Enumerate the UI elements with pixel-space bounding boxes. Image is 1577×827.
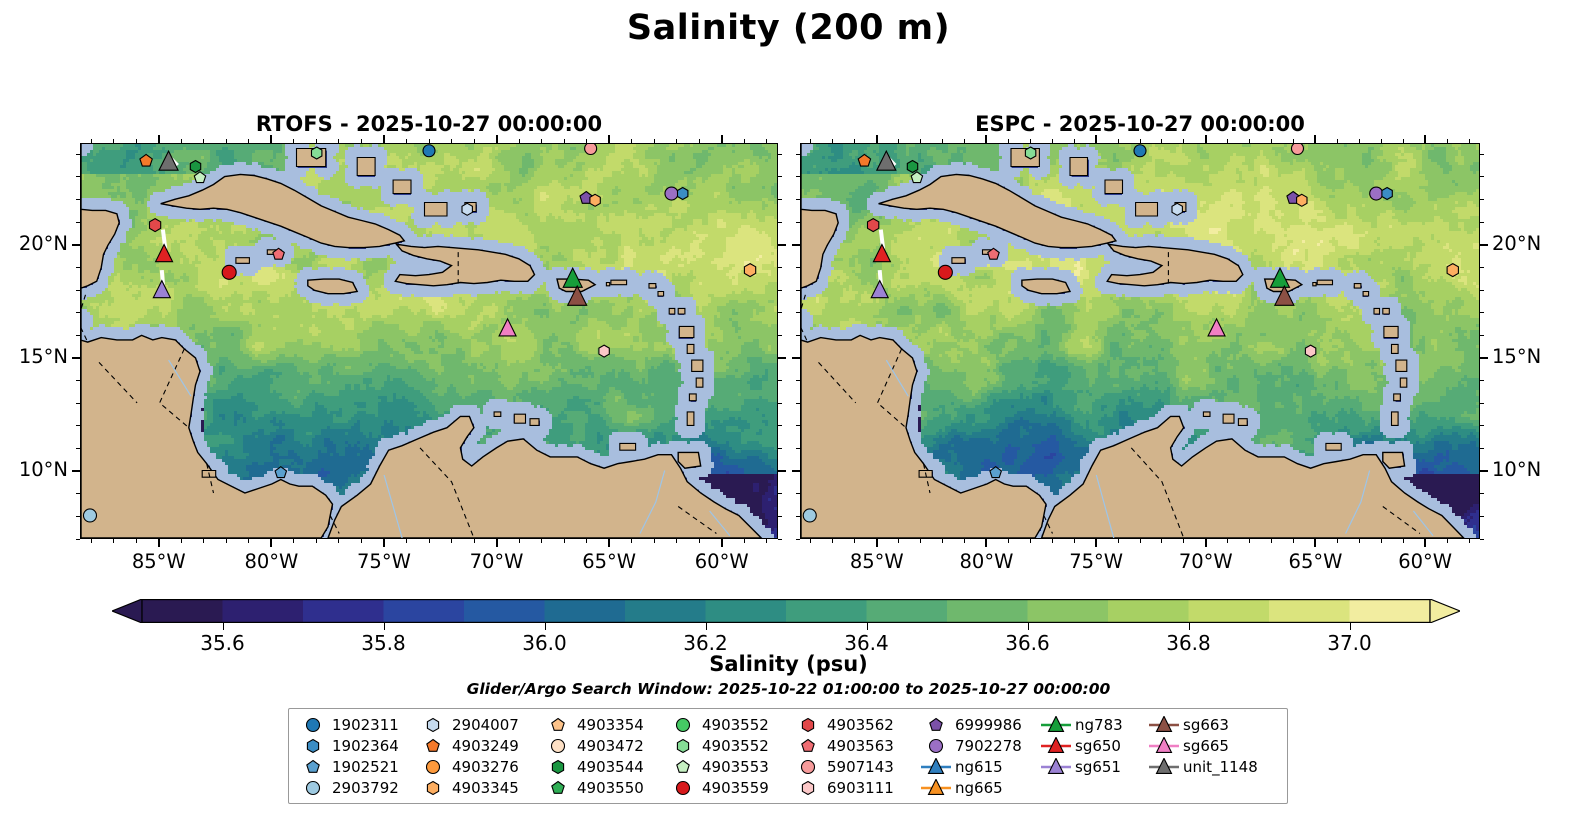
xtick-minor <box>429 139 430 143</box>
colorbar-tick <box>384 623 385 630</box>
legend-label: 4903550 <box>575 779 644 797</box>
legend-item[interactable]: 1902311 <box>296 714 416 735</box>
xtick-label: 75°W <box>1069 550 1123 573</box>
legend-item[interactable]: 4903345 <box>416 777 541 798</box>
legend-column-7: ng783sg650sg651 <box>1039 714 1147 799</box>
xtick-minor <box>832 539 833 543</box>
map-marker-2903792 <box>803 509 816 522</box>
legend-item[interactable]: sg665 <box>1147 735 1277 756</box>
legend-label: ng615 <box>953 758 1003 776</box>
xtick-minor <box>1074 139 1075 143</box>
legend-label: 1902311 <box>330 716 399 734</box>
panel-title-rtofs: RTOFS - 2025-10-27 00:00:00 <box>80 112 778 136</box>
ytick-minor <box>796 380 800 381</box>
xtick-minor <box>654 539 655 543</box>
xtick-major <box>383 135 385 143</box>
xtick-minor <box>1140 139 1141 143</box>
ytick-minor <box>76 403 80 404</box>
ytick-minor <box>796 516 800 517</box>
xtick-minor <box>203 539 204 543</box>
xtick-minor <box>541 139 542 143</box>
xtick-minor <box>564 539 565 543</box>
legend-label: 4903562 <box>825 716 894 734</box>
ytick-minor <box>796 222 800 223</box>
xtick-label: 75°W <box>357 550 411 573</box>
xtick-minor <box>1227 539 1228 543</box>
map-marker-2903792 <box>83 509 96 522</box>
legend-marker-triangle-line-icon <box>919 757 953 777</box>
xtick-minor <box>1381 139 1382 143</box>
xtick-major <box>158 135 160 143</box>
xtick-minor <box>920 539 921 543</box>
ytick-minor <box>76 222 80 223</box>
xtick-minor <box>699 539 700 543</box>
legend-item[interactable]: 7902278 <box>919 735 1039 756</box>
ytick-label: 10°N <box>0 458 68 481</box>
panel-title-espc: ESPC - 2025-10-27 00:00:00 <box>800 112 1480 136</box>
legend-label: 6903111 <box>825 779 894 797</box>
xtick-major <box>985 539 987 547</box>
xtick-minor <box>474 539 475 543</box>
colorbar-band <box>1189 599 1270 623</box>
xtick-minor <box>1249 139 1250 143</box>
legend-marker-hexagon-icon <box>541 757 575 777</box>
legend-item[interactable]: 2903792 <box>296 777 416 798</box>
legend-marker-triangle-line-icon <box>1039 757 1073 777</box>
legend-label: 4903552 <box>700 716 769 734</box>
colorbar-tick <box>1028 623 1029 630</box>
colorbar-band <box>1108 599 1189 623</box>
legend-item[interactable]: sg663 <box>1147 714 1277 735</box>
map-panel-rtofs[interactable] <box>80 143 778 539</box>
xtick-minor <box>91 139 92 143</box>
legend-label: 1902521 <box>330 758 399 776</box>
colorbar-band <box>947 599 1028 623</box>
xtick-major <box>608 135 610 143</box>
xtick-minor <box>91 539 92 543</box>
ytick-minor <box>1480 335 1484 336</box>
map-marker-1902364 <box>678 188 688 200</box>
ytick-minor <box>76 539 80 540</box>
legend-marker-hexagon-icon <box>666 736 700 756</box>
colorbar-band <box>1028 599 1109 623</box>
xtick-minor <box>519 139 520 143</box>
xtick-minor <box>226 539 227 543</box>
colorbar-tick <box>1189 623 1190 630</box>
ytick-minor <box>1480 448 1484 449</box>
ytick-major <box>72 470 80 472</box>
legend-marker-pentagon-icon <box>791 736 825 756</box>
ytick-minor <box>76 425 80 426</box>
colorbar-band <box>706 599 787 623</box>
legend-marker-hexagon-icon <box>791 778 825 798</box>
map-marker-4903559 <box>938 265 952 279</box>
legend-item[interactable]: 1902521 <box>296 756 416 777</box>
ytick-minor <box>796 448 800 449</box>
xtick-minor <box>248 539 249 543</box>
xtick-minor <box>1403 139 1404 143</box>
legend-item[interactable]: 4903544 <box>541 756 666 777</box>
legend-item[interactable]: ng665 <box>919 777 1039 798</box>
legend-marker-hexagon-icon <box>416 778 450 798</box>
ytick-minor <box>1480 516 1484 517</box>
legend-marker-hexagon-icon <box>296 736 330 756</box>
legend-item[interactable]: 6903111 <box>791 777 919 798</box>
ytick-minor <box>796 403 800 404</box>
legend-label: ng665 <box>953 779 1003 797</box>
ytick-major <box>778 470 786 472</box>
map-marker-1902364 <box>1382 188 1392 200</box>
map-marker-7902278 <box>665 187 678 200</box>
legend-label: ng783 <box>1073 716 1123 734</box>
legend-item[interactable]: 4903552 <box>666 714 791 735</box>
ytick-minor <box>778 154 782 155</box>
xtick-label: 80°W <box>960 550 1014 573</box>
xtick-minor <box>429 539 430 543</box>
ytick-label: 10°N <box>1492 458 1541 481</box>
legend-marker-pentagon-icon <box>416 736 450 756</box>
xtick-minor <box>676 139 677 143</box>
legend-marker-circle-icon <box>416 757 450 777</box>
legend-marker-pentagon-icon <box>541 715 575 735</box>
xtick-label: 70°W <box>470 550 524 573</box>
xtick-minor <box>1337 139 1338 143</box>
xtick-minor <box>766 139 767 143</box>
ytick-major <box>792 244 800 246</box>
legend-item[interactable]: 6999986 <box>919 714 1039 735</box>
legend-label: 6999986 <box>953 716 1022 734</box>
xtick-minor <box>810 539 811 543</box>
xtick-minor <box>1052 139 1053 143</box>
xtick-minor <box>920 139 921 143</box>
xtick-major <box>270 539 272 547</box>
legend[interactable]: 1902311190236419025212903792290400749032… <box>288 708 1288 804</box>
colorbar-tick <box>1350 623 1351 630</box>
legend-marker-triangle-line-icon <box>1147 757 1181 777</box>
colorbar-band <box>384 599 465 623</box>
xtick-minor <box>942 139 943 143</box>
ytick-minor <box>1480 380 1484 381</box>
legend-item[interactable]: 5907143 <box>791 756 919 777</box>
legend-item[interactable]: 2904007 <box>416 714 541 735</box>
xtick-major <box>1314 135 1316 143</box>
legend-label: 4903354 <box>575 716 644 734</box>
legend-item[interactable]: 4903276 <box>416 756 541 777</box>
xtick-major <box>876 135 878 143</box>
xtick-major <box>1095 135 1097 143</box>
xtick-minor <box>1052 539 1053 543</box>
xtick-minor <box>248 139 249 143</box>
legend-label: sg665 <box>1181 737 1229 755</box>
map-marker-5907143 <box>585 144 597 155</box>
ytick-minor <box>778 493 782 494</box>
map-marker-4903552b <box>312 147 322 159</box>
colorbar-tick <box>545 623 546 630</box>
legend-label: 4903472 <box>575 737 644 755</box>
legend-marker-pentagon-icon <box>296 757 330 777</box>
legend-label: 4903249 <box>450 737 519 755</box>
ytick-minor <box>76 335 80 336</box>
ytick-major <box>778 244 786 246</box>
legend-item[interactable]: sg650 <box>1039 735 1147 756</box>
xtick-minor <box>1271 139 1272 143</box>
ytick-minor <box>1480 222 1484 223</box>
xtick-minor <box>293 139 294 143</box>
ytick-label: 20°N <box>0 232 68 255</box>
map-panel-espc[interactable] <box>800 143 1480 539</box>
legend-item[interactable]: 4903472 <box>541 735 666 756</box>
xtick-minor <box>766 539 767 543</box>
xtick-minor <box>898 539 899 543</box>
map-marker-1902311 <box>423 145 435 157</box>
xtick-label: 85°W <box>850 550 904 573</box>
legend-marker-triangle-line-icon <box>919 778 953 798</box>
colorbar-axis: 35.635.836.036.236.436.636.837.0 <box>112 623 1460 653</box>
ytick-major <box>72 357 80 359</box>
xtick-minor <box>1183 139 1184 143</box>
ytick-minor <box>796 335 800 336</box>
xtick-minor <box>136 139 137 143</box>
legend-column-6: 69999867902278ng615ng665 <box>919 714 1039 799</box>
legend-column-8: sg663sg665unit_1148 <box>1147 714 1277 799</box>
ytick-minor <box>1480 290 1484 291</box>
ytick-minor <box>796 539 800 540</box>
xtick-minor <box>586 139 587 143</box>
colorbar-band <box>625 599 706 623</box>
xtick-minor <box>676 539 677 543</box>
colorbar-label: Salinity (psu) <box>0 652 1577 676</box>
ytick-minor <box>76 290 80 291</box>
legend-label: unit_1148 <box>1181 758 1258 776</box>
xtick-label: 70°W <box>1179 550 1233 573</box>
ytick-label: 20°N <box>1492 232 1541 255</box>
xtick-minor <box>1469 539 1470 543</box>
map-marker-4903472 <box>744 264 755 277</box>
legend-label: sg663 <box>1181 716 1229 734</box>
legend-label: 4903563 <box>825 737 894 755</box>
ytick-minor <box>1480 199 1484 200</box>
xtick-minor <box>699 139 700 143</box>
ytick-major <box>1480 244 1488 246</box>
legend-item[interactable]: 4903550 <box>541 777 666 798</box>
legend-label: 1902364 <box>330 737 399 755</box>
xtick-minor <box>1293 139 1294 143</box>
xtick-minor <box>519 539 520 543</box>
ytick-minor <box>778 539 782 540</box>
map-marker-4903562 <box>868 219 879 232</box>
legend-item[interactable]: ng783 <box>1039 714 1147 735</box>
ytick-minor <box>76 312 80 313</box>
legend-marker-circle-icon <box>919 736 953 756</box>
legend-item[interactable]: 4903249 <box>416 735 541 756</box>
xtick-minor <box>898 139 899 143</box>
xtick-major <box>608 539 610 547</box>
colorbar-band <box>786 599 867 623</box>
ytick-minor <box>778 335 782 336</box>
xtick-minor <box>226 139 227 143</box>
colorbar-band <box>867 599 948 623</box>
map-marker-6903111 <box>599 345 609 357</box>
legend-label: 4903552 <box>700 737 769 755</box>
xtick-minor <box>451 139 452 143</box>
xtick-minor <box>181 539 182 543</box>
xtick-minor <box>942 539 943 543</box>
xtick-label: 60°W <box>695 550 749 573</box>
legend-item[interactable]: 4903553 <box>666 756 791 777</box>
map-marker-4903544 <box>190 161 200 173</box>
xtick-major <box>496 135 498 143</box>
xtick-minor <box>1030 539 1031 543</box>
legend-marker-hexagon-icon <box>416 715 450 735</box>
legend-marker-circle-icon <box>666 778 700 798</box>
xtick-minor <box>810 139 811 143</box>
xtick-minor <box>1403 539 1404 543</box>
ytick-minor <box>1480 403 1484 404</box>
ytick-minor <box>1480 176 1484 177</box>
ytick-minor <box>1480 425 1484 426</box>
xtick-major <box>158 539 160 547</box>
ytick-minor <box>76 176 80 177</box>
xtick-minor <box>1381 539 1382 543</box>
legend-label: sg650 <box>1073 737 1121 755</box>
figure-title: Salinity (200 m) <box>0 8 1577 48</box>
xtick-minor <box>316 139 317 143</box>
legend-item[interactable]: 4903563 <box>791 735 919 756</box>
ytick-minor <box>1480 312 1484 313</box>
legend-marker-hexagon-icon <box>791 715 825 735</box>
ytick-minor <box>76 493 80 494</box>
xtick-label: 60°W <box>1398 550 1452 573</box>
legend-label: 2903792 <box>330 779 399 797</box>
xtick-minor <box>1337 539 1338 543</box>
ytick-minor <box>76 448 80 449</box>
xtick-minor <box>293 539 294 543</box>
legend-marker-pentagon-icon <box>919 715 953 735</box>
xtick-major <box>1205 539 1207 547</box>
ytick-label: 15°N <box>1492 345 1541 368</box>
legend-marker-pentagon-icon <box>666 757 700 777</box>
legend-marker-triangle-line-icon <box>1039 715 1073 735</box>
legend-column-3: 4903354490347249035444903550 <box>541 714 666 799</box>
ytick-minor <box>778 448 782 449</box>
xtick-label: 65°W <box>1289 550 1343 573</box>
xtick-minor <box>1447 539 1448 543</box>
ytick-major <box>778 357 786 359</box>
map-marker-4903562 <box>150 219 161 232</box>
xtick-major <box>496 539 498 547</box>
ytick-minor <box>76 380 80 381</box>
legend-item[interactable]: 4903552 <box>666 735 791 756</box>
legend-label: sg651 <box>1073 758 1121 776</box>
ytick-minor <box>1480 539 1484 540</box>
map-marker-4903559 <box>222 265 236 279</box>
legend-column-4: 4903552490355249035534903559 <box>666 714 791 799</box>
legend-marker-circle-icon <box>296 778 330 798</box>
legend-marker-circle-icon <box>666 715 700 735</box>
xtick-major <box>721 539 723 547</box>
xtick-minor <box>541 539 542 543</box>
map-marker-1902311 <box>1134 145 1146 157</box>
xtick-minor <box>1359 139 1360 143</box>
xtick-minor <box>586 539 587 543</box>
ytick-minor <box>76 199 80 200</box>
ytick-minor <box>76 516 80 517</box>
ytick-minor <box>778 222 782 223</box>
legend-item[interactable]: sg651 <box>1039 756 1147 777</box>
legend-item[interactable]: ng615 <box>919 756 1039 777</box>
legend-label: 5907143 <box>825 758 894 776</box>
ytick-minor <box>778 199 782 200</box>
xtick-minor <box>744 539 745 543</box>
legend-marker-triangle-line-icon <box>1147 715 1181 735</box>
xtick-major <box>1314 539 1316 547</box>
xtick-minor <box>338 539 339 543</box>
legend-marker-circle-icon <box>791 757 825 777</box>
xtick-minor <box>1008 539 1009 543</box>
legend-marker-circle-icon <box>296 715 330 735</box>
legend-item[interactable]: 4903562 <box>791 714 919 735</box>
xtick-minor <box>474 139 475 143</box>
xtick-major <box>383 539 385 547</box>
xtick-minor <box>1161 539 1162 543</box>
map-marker-7902278 <box>1370 187 1383 200</box>
xtick-minor <box>1271 539 1272 543</box>
map-marker-4903345 <box>590 194 600 206</box>
colorbar-tick <box>867 623 868 630</box>
colorbar-extend-high <box>1430 599 1460 623</box>
xtick-minor <box>361 539 362 543</box>
xtick-minor <box>1008 139 1009 143</box>
xtick-minor <box>564 139 565 143</box>
ytick-minor <box>778 176 782 177</box>
colorbar-tick <box>706 623 707 630</box>
colorbar-band <box>1269 599 1350 623</box>
xtick-minor <box>631 139 632 143</box>
legend-item[interactable]: unit_1148 <box>1147 756 1277 777</box>
ytick-minor <box>796 176 800 177</box>
colorbar-band <box>464 599 545 623</box>
ytick-minor <box>778 290 782 291</box>
xtick-minor <box>1359 539 1360 543</box>
xtick-minor <box>854 539 855 543</box>
xtick-minor <box>181 139 182 143</box>
xtick-label: 65°W <box>582 550 636 573</box>
legend-item[interactable]: 4903559 <box>666 777 791 798</box>
colorbar-band <box>142 599 223 623</box>
colorbar-band <box>545 599 626 623</box>
xtick-minor <box>1469 139 1470 143</box>
ytick-minor <box>796 199 800 200</box>
ytick-minor <box>76 267 80 268</box>
xtick-minor <box>1183 539 1184 543</box>
map-marker-2904007 <box>1172 203 1182 215</box>
legend-label: 4903559 <box>700 779 769 797</box>
xtick-minor <box>631 539 632 543</box>
ytick-minor <box>796 312 800 313</box>
legend-item[interactable]: 1902364 <box>296 735 416 756</box>
colorbar-band <box>303 599 384 623</box>
colorbar-extend-low <box>112 599 142 623</box>
map-marker-4903544 <box>907 161 917 173</box>
ytick-minor <box>796 493 800 494</box>
xtick-major <box>1205 135 1207 143</box>
ytick-minor <box>76 154 80 155</box>
legend-item[interactable]: 4903354 <box>541 714 666 735</box>
search-window-label: Glider/Argo Search Window: 2025-10-22 01… <box>0 680 1577 698</box>
colorbar-band <box>1350 599 1431 623</box>
xtick-major <box>1424 135 1426 143</box>
xtick-minor <box>136 539 137 543</box>
